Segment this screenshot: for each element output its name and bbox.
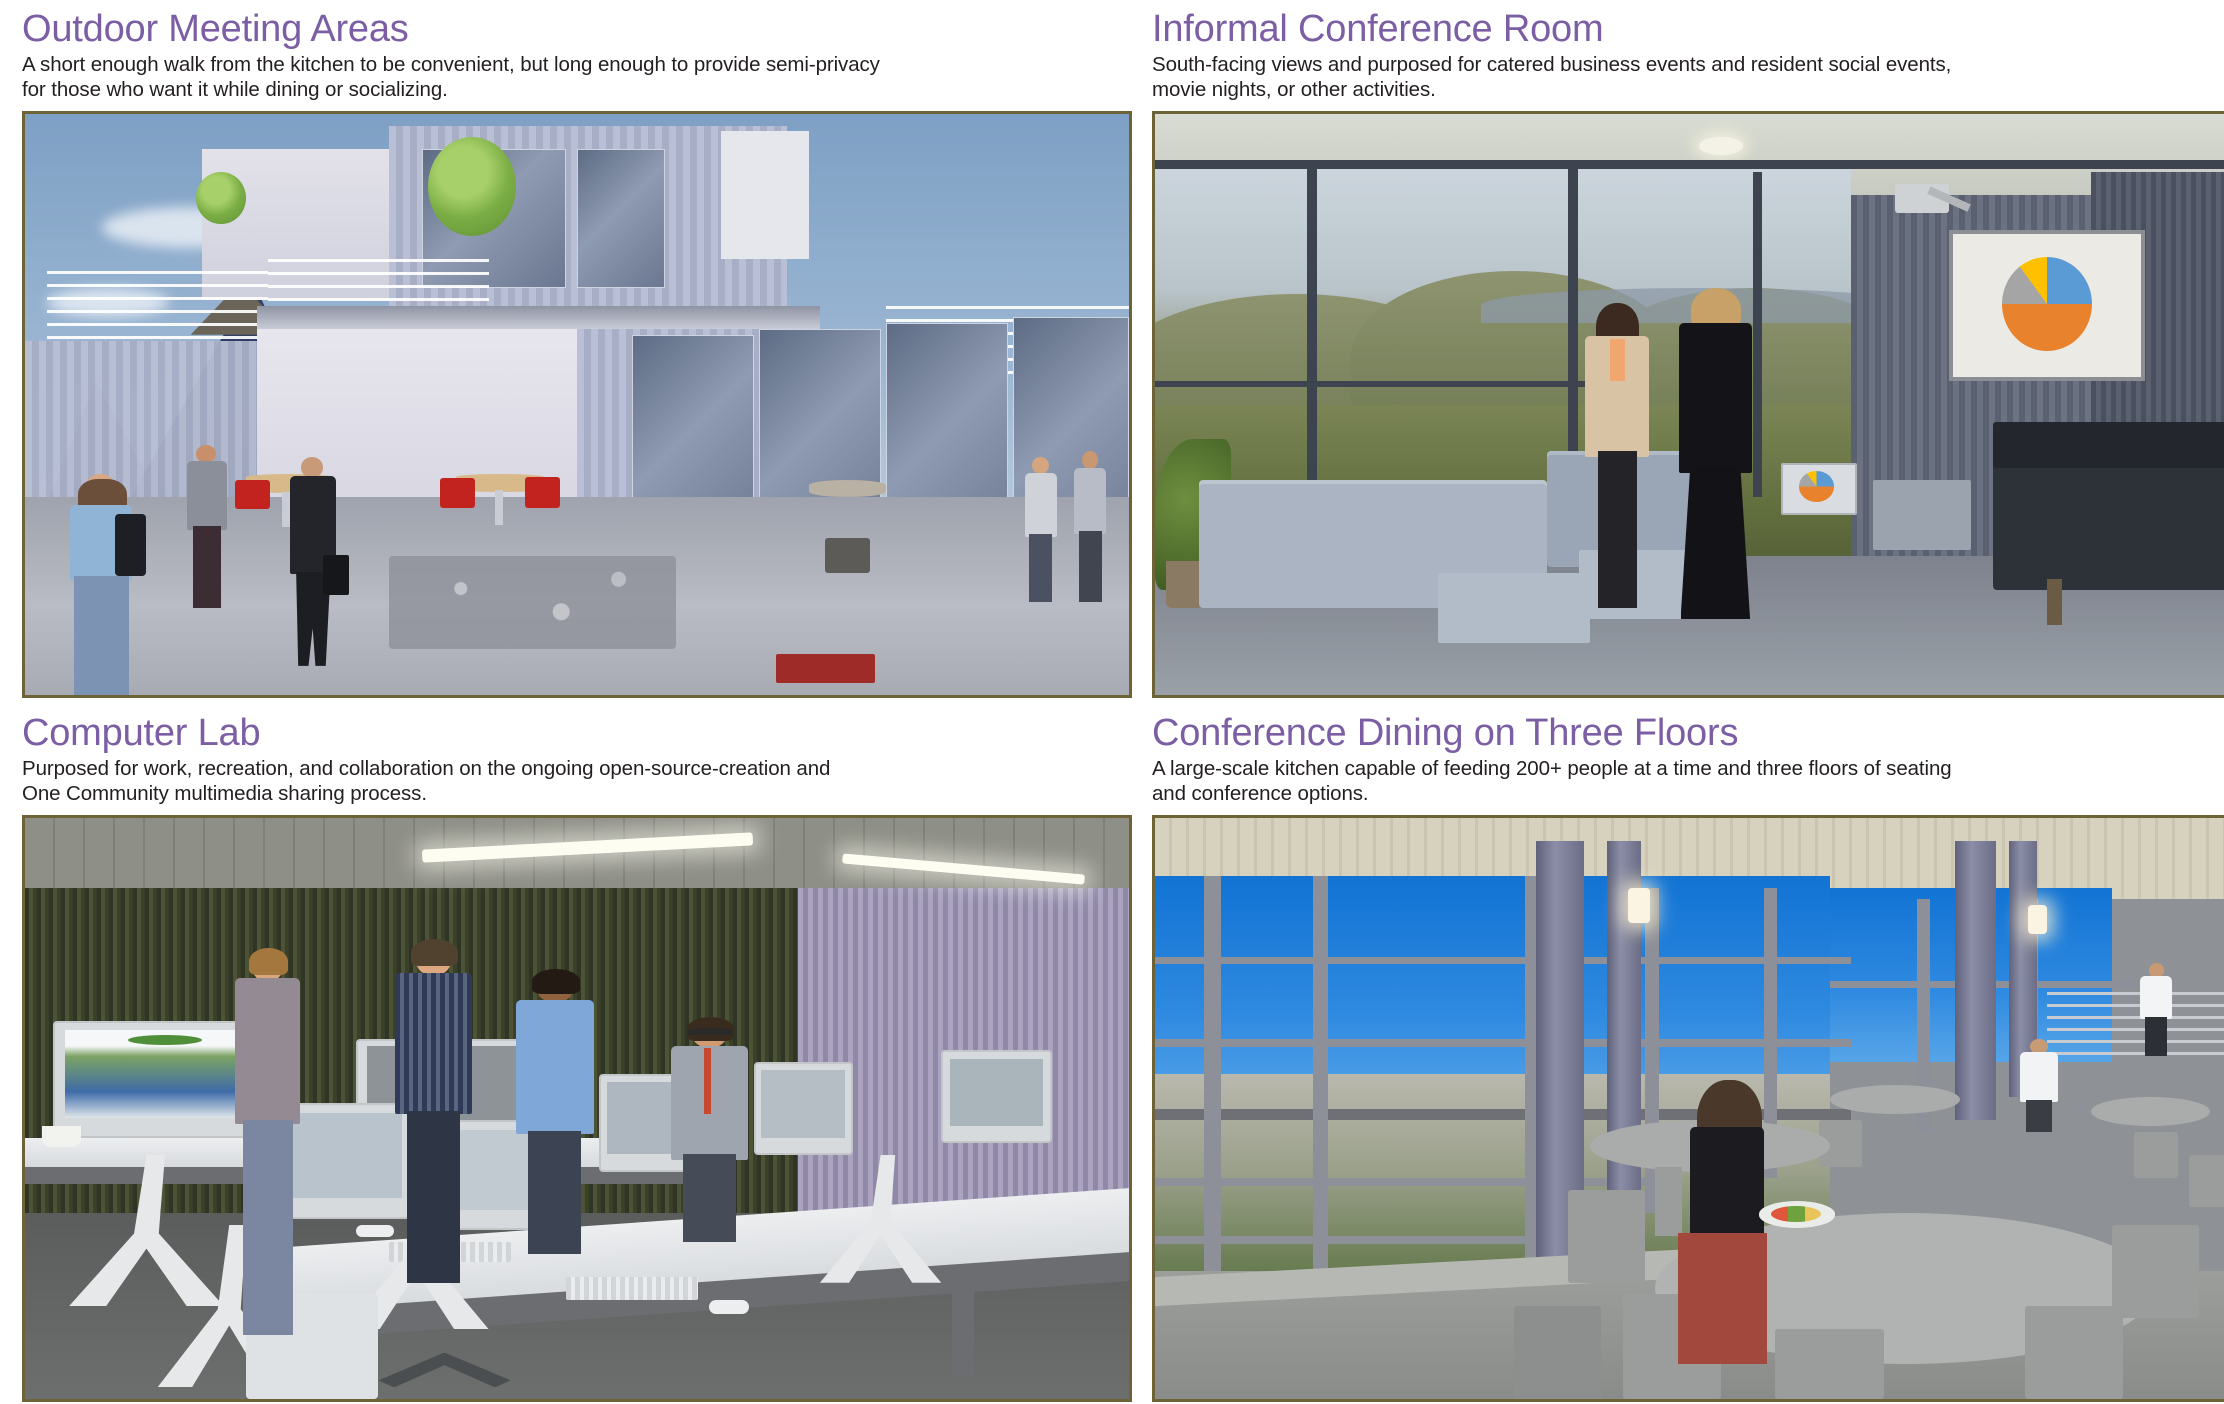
ottoman — [1873, 480, 1971, 550]
page-title-outdoor-meeting-areas: Outdoor Meeting Areas — [22, 8, 1132, 50]
window-mullion — [1155, 1039, 1851, 1047]
person-man-background — [2015, 1039, 2064, 1132]
person-walking-businessman — [279, 457, 345, 666]
ceiling-light-icon — [1699, 137, 1743, 154]
page-title-computer-lab: Computer Lab — [22, 712, 1132, 754]
tree — [196, 172, 246, 224]
card-conference-dining-on-three-floors: Conference Dining on Three Floors A larg… — [1152, 712, 2224, 1402]
dining-chair — [2134, 1132, 2178, 1178]
side-table — [809, 480, 886, 497]
rendering-image-computer-lab — [22, 815, 1132, 1402]
desc-line: A short enough walk from the kitchen to … — [22, 52, 1112, 77]
website-logo-icon — [128, 1035, 202, 1045]
person-man-headset — [665, 1021, 753, 1242]
desc-line: for those who want it while dining or so… — [22, 77, 1112, 102]
desc-line: South-facing views and purposed for cate… — [1152, 52, 2224, 77]
person-woman-tan-blazer — [1579, 306, 1655, 608]
desc-line: One Community multimedia sharing process… — [22, 781, 1112, 806]
rendering-image-conference-dining-on-three-floors — [1152, 815, 2224, 1402]
cafe-chair — [235, 480, 270, 509]
window-mullion — [1155, 1178, 1677, 1186]
cards-grid: Outdoor Meeting Areas A short enough wal… — [0, 0, 2224, 1402]
structural-column — [1955, 841, 1996, 1120]
monitor — [754, 1062, 853, 1155]
person-man-striped-shirt — [229, 952, 306, 1335]
laptop-screen-pie-chart — [1799, 471, 1834, 501]
desc-line: A large-scale kitchen capable of feeding… — [1152, 756, 2224, 781]
renderings-page: Outdoor Meeting Areas A short enough wal… — [0, 0, 2224, 1404]
mouse — [709, 1300, 749, 1314]
person-woman-black-dress — [1672, 294, 1759, 619]
desc-line: Purposed for work, recreation, and colla… — [22, 756, 1112, 781]
desk-leg — [952, 1283, 974, 1376]
monitor-screen — [761, 1070, 845, 1138]
desc-line: movie nights, or other activities. — [1152, 77, 2224, 102]
rendering-image-outdoor-meeting-areas — [22, 111, 1132, 698]
cafe-chair — [525, 477, 560, 508]
person-foreground-left — [58, 474, 146, 695]
window-mullion — [1204, 876, 1221, 1294]
canopy — [257, 306, 820, 329]
rendering-image-informal-conference-room — [1152, 111, 2224, 698]
dining-chair — [2112, 1225, 2199, 1318]
card-description-conference-dining-on-three-floors: A large-scale kitchen capable of feeding… — [1152, 756, 2224, 806]
headset-icon — [688, 1028, 732, 1035]
person-man-plaid-shirt — [389, 946, 477, 1283]
card-description-computer-lab: Purposed for work, recreation, and colla… — [22, 756, 1112, 806]
scene-dining — [1155, 818, 2224, 1399]
bench-leg — [2047, 579, 2062, 625]
dining-chair — [2189, 1155, 2224, 1207]
keyboard — [566, 1277, 698, 1300]
person-man-balcony — [2134, 963, 2178, 1056]
card-description-outdoor-meeting-areas: A short enough walk from the kitchen to … — [22, 52, 1112, 102]
monitor — [941, 1050, 1051, 1143]
balcony-railing — [47, 271, 268, 347]
person-right-pair-b — [1068, 451, 1112, 602]
dining-chair — [1568, 1190, 1644, 1283]
table-leg — [495, 490, 503, 525]
card-computer-lab: Computer Lab Purposed for work, recreati… — [22, 712, 1132, 1402]
card-outdoor-meeting-areas: Outdoor Meeting Areas A short enough wal… — [22, 8, 1132, 698]
presentation-pie-chart — [2002, 257, 2092, 351]
window-mullion — [1155, 957, 1851, 964]
ottoman — [1438, 573, 1590, 643]
window-mullion — [1155, 381, 1590, 387]
person-right-pair-a — [1019, 457, 1063, 602]
bench-red — [776, 654, 875, 683]
projection-screen — [1949, 230, 2145, 381]
purple-curtain — [798, 847, 1129, 1242]
page-title-informal-conference-room: Informal Conference Room — [1152, 8, 2224, 50]
desc-line: and conference options. — [1152, 781, 2224, 806]
cafe-chair — [440, 478, 475, 508]
upper-glazing — [577, 149, 665, 288]
card-informal-conference-room: Informal Conference Room South-facing vi… — [1152, 8, 2224, 698]
dining-table-background — [2091, 1097, 2211, 1126]
scene-outdoor — [25, 114, 1129, 695]
scene-conference — [1155, 114, 2224, 695]
wall-sconce — [1628, 888, 1650, 923]
building-right-block — [721, 131, 809, 259]
plaza-rug — [389, 556, 676, 649]
stool — [825, 538, 869, 573]
card-description-informal-conference-room: South-facing views and purposed for cate… — [1152, 52, 2224, 102]
dining-chair — [2025, 1306, 2123, 1399]
person-man-blue-shirt — [511, 975, 599, 1254]
dining-chair — [1775, 1329, 1884, 1399]
bench-seating-back — [1993, 422, 2224, 468]
window-mullion — [1313, 876, 1328, 1294]
scene-computer-lab — [25, 818, 1129, 1399]
coffee-cup — [42, 1126, 82, 1147]
monitor-screen — [950, 1059, 1044, 1127]
tree — [428, 137, 516, 236]
person-woman-seated-dining — [1666, 1085, 1786, 1364]
dining-chair — [1514, 1306, 1601, 1399]
page-title-conference-dining-on-three-floors: Conference Dining on Three Floors — [1152, 712, 2224, 754]
wall-sconce — [2028, 905, 2048, 934]
person-standing-left — [180, 445, 235, 608]
mouse — [356, 1225, 394, 1238]
